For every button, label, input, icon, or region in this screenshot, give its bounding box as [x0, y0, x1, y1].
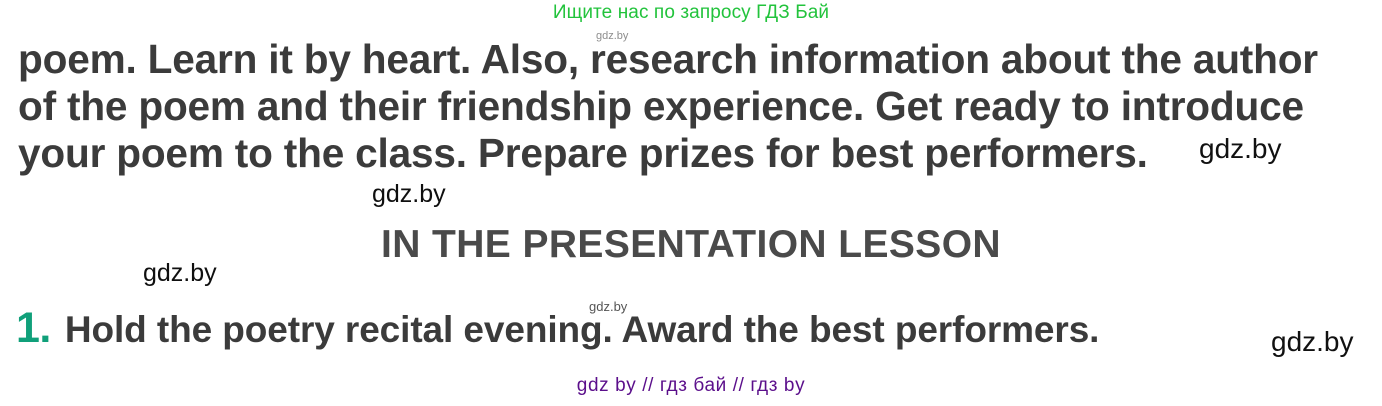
body-text-line-2: of the poem and their friendship experie… [18, 83, 1355, 130]
watermark-gdz-by: gdz.by [1271, 326, 1354, 358]
watermark-gdz-by: gdz.by [1199, 133, 1282, 165]
task-number: 1. [16, 303, 51, 353]
watermark-gdz-by: gdz.by [589, 299, 627, 314]
body-text-line-3: your poem to the class. Prepare prizes f… [18, 130, 1355, 177]
footer-link-strip: gdz by // гдз бай // гдз by [0, 374, 1382, 398]
promo-banner: Ищите нас по запросу ГДЗ Бай [0, 0, 1382, 26]
watermark-gdz-by: gdz.by [596, 30, 628, 42]
exercise-body-text: poem. Learn it by heart. Also, research … [18, 36, 1355, 177]
body-text-line-1: poem. Learn it by heart. Also, research … [18, 36, 1355, 83]
task-text: Hold the poetry recital evening. Award t… [65, 305, 1099, 355]
watermark-gdz-by: gdz.by [372, 180, 446, 209]
task-item-1: 1. Hold the poetry recital evening. Awar… [16, 303, 1376, 355]
watermark-gdz-by: gdz.by [143, 259, 217, 288]
